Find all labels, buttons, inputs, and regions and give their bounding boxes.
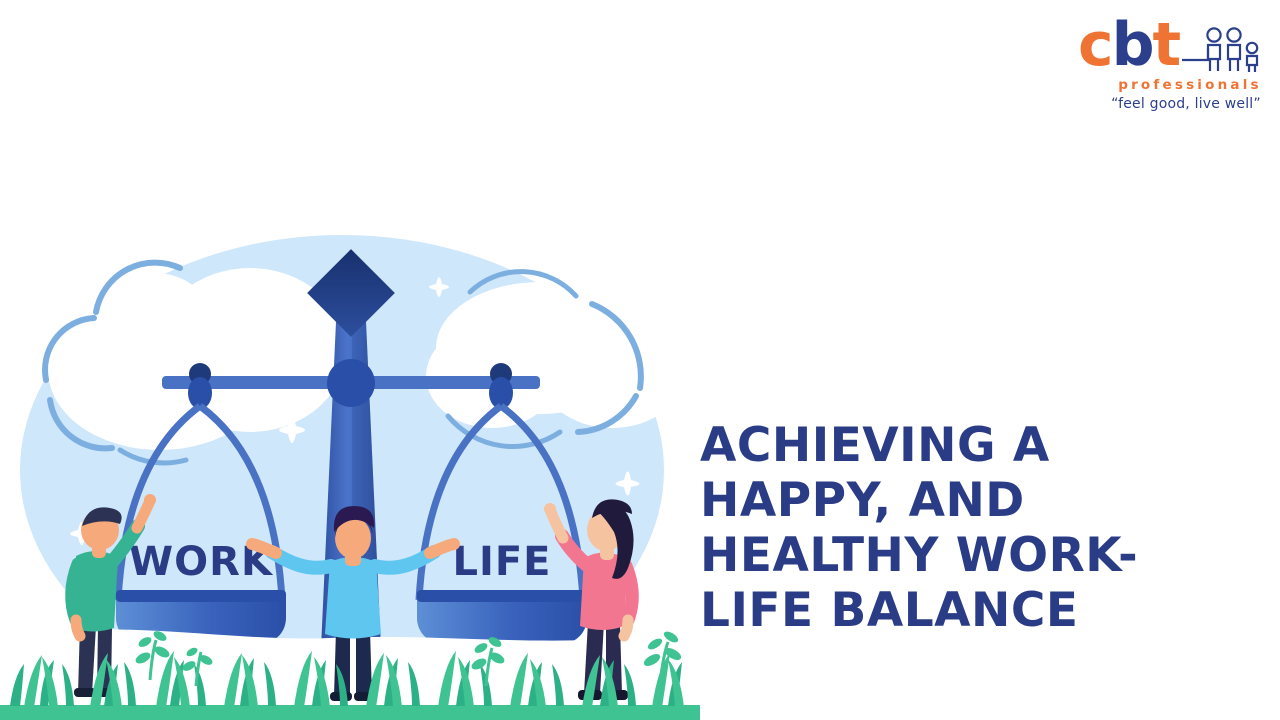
logo-letter-t: t [1153,10,1180,80]
headline-line-4: LIFE BALANCE [700,583,1220,638]
right-pan [417,590,587,644]
logo-family-people-icon [1182,26,1274,82]
page-title: ACHIEVING A HAPPY, AND HEALTHY WORK- LIF… [700,418,1220,638]
logo-subtitle: professionals [1106,78,1274,93]
work-life-balance-illustration: WORK LIFE [0,200,700,720]
headline-line-2: HAPPY, AND [700,473,1220,528]
logo-letter-c: c [1078,10,1112,80]
logo-letter-b: b [1112,10,1153,80]
headline-line-1: ACHIEVING A [700,418,1220,473]
right-pan-label: LIFE [452,539,551,585]
logo-tagline: “feel good, live well” [1098,96,1274,112]
poster-canvas: cbt professionals “feel good, live [0,0,1280,720]
headline-line-3: HEALTHY WORK- [700,528,1220,583]
cbt-professionals-logo[interactable]: cbt professionals “feel good, live [1078,14,1274,116]
